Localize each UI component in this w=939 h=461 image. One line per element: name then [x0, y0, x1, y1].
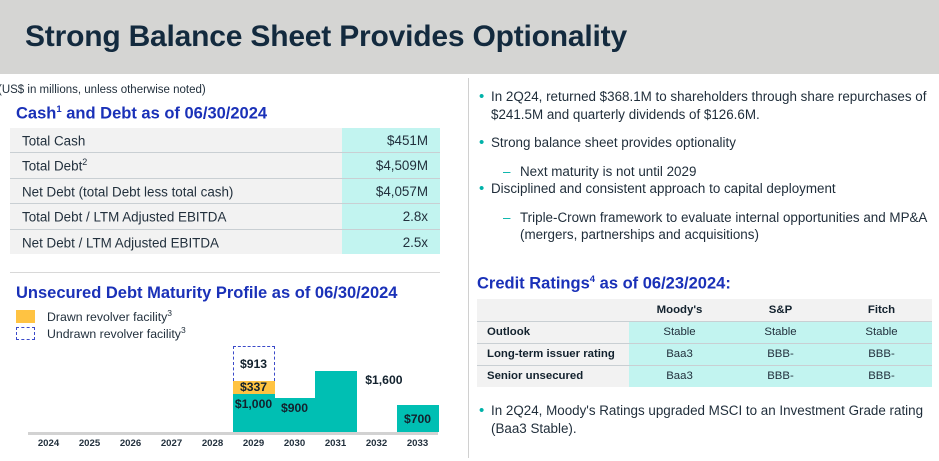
- ratings-col-header-fitch: Fitch: [831, 299, 932, 321]
- chart-x-tick: 2028: [192, 438, 234, 449]
- ratings-cell: BBB-: [831, 365, 932, 387]
- sub-bullet-text: Triple-Crown framework to evaluate inter…: [520, 209, 932, 244]
- ratings-cell: Stable: [629, 321, 730, 343]
- legend-label-drawn-sup: 3: [167, 308, 172, 318]
- cash-row-label: Total Cash: [10, 128, 342, 153]
- chart-x-tick: 2032: [356, 438, 398, 449]
- bar-segment-senior-unsecured-notes: $700: [397, 405, 439, 432]
- cash-row-label-text: Total Debt / LTM Adjusted EBITDA: [22, 210, 226, 225]
- highlights-bullet-list: • In 2Q24, returned $368.1M to sharehold…: [477, 88, 932, 244]
- left-column: (US$ in millions, unless otherwise noted…: [0, 74, 468, 461]
- dash-icon: –: [503, 163, 520, 181]
- chart-bar-2029: $913$337$1,000: [233, 346, 275, 432]
- cash-row-label-sup: 2: [82, 157, 87, 167]
- bar-value-label: $913: [240, 357, 267, 371]
- ratings-col-header-moodys: Moody's: [629, 299, 730, 321]
- bullet-dot-icon: •: [477, 402, 491, 437]
- table-header-row: Moody's S&P Fitch: [477, 299, 932, 321]
- legend-item-undrawn: Undrawn revolver facility3: [16, 325, 186, 342]
- chart-bar-2030: $900: [274, 398, 316, 432]
- ratings-table-head: Moody's S&P Fitch: [477, 299, 932, 321]
- slide-root: Strong Balance Sheet Provides Optionalit…: [0, 0, 939, 461]
- bullet-text: Disciplined and consistent approach to c…: [491, 180, 836, 198]
- chart-x-tick: 2026: [110, 438, 152, 449]
- cash-row-value: $4,057M: [342, 178, 440, 203]
- right-column: • In 2Q24, returned $368.1M to sharehold…: [469, 74, 939, 461]
- chart-legend: Drawn revolver facility3 Undrawn revolve…: [16, 308, 186, 342]
- table-row: Total Debt2 $4,509M: [10, 153, 440, 178]
- chart-x-tick: 2025: [69, 438, 111, 449]
- legend-label-undrawn: Undrawn revolver facility3: [47, 325, 186, 341]
- slide-header: Strong Balance Sheet Provides Optionalit…: [0, 0, 939, 74]
- ratings-cell: Stable: [730, 321, 831, 343]
- bullet-text: Strong balance sheet provides optionalit…: [491, 134, 736, 152]
- ratings-cell: BBB-: [730, 343, 831, 365]
- cash-title-rest: and Debt as of 06/30/2024: [62, 105, 267, 123]
- cash-row-label-text: Total Cash: [22, 133, 85, 148]
- chart-x-tick: 2024: [28, 438, 70, 449]
- ratings-row-label: Senior unsecured: [477, 365, 629, 387]
- legend-label-drawn: Drawn revolver facility3: [47, 308, 172, 324]
- ratings-cell: Stable: [831, 321, 932, 343]
- bullet-row: • Disciplined and consistent approach to…: [477, 180, 932, 198]
- units-note: (US$ in millions, unless otherwise noted…: [0, 84, 206, 96]
- bar-value-label: $900: [281, 401, 308, 415]
- chart-x-tick: 2031: [315, 438, 357, 449]
- maturity-profile-title: Unsecured Debt Maturity Profile as of 06…: [16, 284, 397, 303]
- ratings-cell: BBB-: [831, 343, 932, 365]
- bullet-row: • In 2Q24, Moody's Ratings upgraded MSCI…: [477, 402, 932, 437]
- bullet-dot-icon: •: [477, 88, 491, 123]
- chart-x-tick: 2029: [233, 438, 275, 449]
- ratings-row-label: Outlook: [477, 321, 629, 343]
- chart-x-axis-labels: 2024202520262027202820292030203120322033: [28, 438, 438, 456]
- bar-segment-undrawn-revolver-facility: $913: [233, 346, 275, 381]
- ratings-cell: BBB-: [730, 365, 831, 387]
- legend-label-undrawn-text: Undrawn revolver facility: [47, 328, 181, 342]
- cash-row-value: $451M: [342, 128, 440, 153]
- table-row: Total Cash $451M: [10, 128, 440, 153]
- cash-title-main: Cash: [16, 105, 56, 123]
- ratings-cell: Baa3: [629, 343, 730, 365]
- cash-row-label-text: Total Debt: [22, 159, 82, 174]
- cash-row-label: Total Debt2: [10, 153, 342, 178]
- table-row: Outlook Stable Stable Stable: [477, 321, 932, 343]
- cash-row-value: 2.8x: [342, 204, 440, 229]
- sub-bullet-row: – Next maturity is not until 2029: [503, 163, 932, 181]
- ratings-note-bullet: • In 2Q24, Moody's Ratings upgraded MSCI…: [477, 402, 932, 448]
- cash-row-label: Net Debt (total Debt less total cash): [10, 178, 342, 203]
- ratings-table-body: Outlook Stable Stable Stable Long-term i…: [477, 321, 932, 387]
- table-row: Net Debt / LTM Adjusted EBITDA 2.5x: [10, 229, 440, 254]
- bar-value-label: $1,000: [235, 397, 272, 411]
- chart-bar-2031: $1,600: [315, 371, 357, 432]
- chart-bar-2033: $700: [397, 405, 439, 432]
- bullet-text: In 2Q24, Moody's Ratings upgraded MSCI t…: [491, 402, 932, 437]
- table-row: Net Debt (total Debt less total cash) $4…: [10, 178, 440, 203]
- credit-ratings-title: Credit Ratings4 as of 06/23/2024:: [477, 274, 731, 294]
- cash-table-body: Total Cash $451M Total Debt2 $4,509M Net…: [10, 128, 440, 254]
- cash-and-debt-title: Cash1 and Debt as of 06/30/2024: [16, 104, 267, 124]
- sub-bullet-text: Next maturity is not until 2029: [520, 163, 696, 181]
- bar-value-label: $700: [404, 412, 431, 426]
- bullet-dot-icon: •: [477, 134, 491, 152]
- table-row: Total Debt / LTM Adjusted EBITDA 2.8x: [10, 204, 440, 229]
- dash-icon: –: [503, 209, 520, 244]
- bullet-row: • Strong balance sheet provides optional…: [477, 134, 932, 152]
- chart-bars-layer: $913$337$1,000$900$1,600$700: [28, 346, 438, 432]
- ratings-col-header-sp: S&P: [730, 299, 831, 321]
- section-divider: [10, 272, 440, 273]
- cash-row-label-text: Net Debt (total Debt less total cash): [22, 184, 233, 199]
- bar-segment-senior-unsecured-notes: $1,000: [233, 394, 275, 432]
- undrawn-swatch-icon: [16, 327, 35, 340]
- ratings-title-rest: as of 06/23/2024:: [595, 275, 731, 293]
- chart-axis-line: [28, 432, 438, 435]
- bullet-text: In 2Q24, returned $368.1M to shareholder…: [491, 88, 932, 123]
- bar-value-label: $1,600: [365, 373, 402, 387]
- list-item: • Strong balance sheet provides optional…: [477, 134, 932, 180]
- chart-x-tick: 2033: [397, 438, 439, 449]
- legend-label-undrawn-sup: 3: [181, 325, 186, 335]
- cash-row-label-text: Net Debt / LTM Adjusted EBITDA: [22, 235, 219, 250]
- ratings-col-header-blank: [477, 299, 629, 321]
- table-row: Long-term issuer rating Baa3 BBB- BBB-: [477, 343, 932, 365]
- legend-item-drawn: Drawn revolver facility3: [16, 308, 186, 325]
- ratings-title-main: Credit Ratings: [477, 275, 590, 293]
- cash-and-debt-table: Total Cash $451M Total Debt2 $4,509M Net…: [10, 128, 440, 254]
- table-row: Senior unsecured Baa3 BBB- BBB-: [477, 365, 932, 387]
- ratings-row-label: Long-term issuer rating: [477, 343, 629, 365]
- bullet-row: • In 2Q24, returned $368.1M to sharehold…: [477, 88, 932, 123]
- cash-row-value: 2.5x: [342, 229, 440, 254]
- bar-segment-senior-unsecured-notes: $900: [274, 398, 316, 432]
- list-item: • In 2Q24, returned $368.1M to sharehold…: [477, 88, 932, 123]
- page-title: Strong Balance Sheet Provides Optionalit…: [25, 20, 627, 54]
- legend-label-drawn-text: Drawn revolver facility: [47, 311, 167, 325]
- bar-value-label: $337: [240, 380, 267, 394]
- maturity-bar-chart: $913$337$1,000$900$1,600$700 20242025202…: [10, 346, 450, 458]
- sub-bullet-row: – Triple-Crown framework to evaluate int…: [503, 209, 932, 244]
- bullet-dot-icon: •: [477, 180, 491, 198]
- cash-row-label: Total Debt / LTM Adjusted EBITDA: [10, 204, 342, 229]
- cash-row-value: $4,509M: [342, 153, 440, 178]
- credit-ratings-table: Moody's S&P Fitch Outlook Stable Stable …: [477, 299, 932, 387]
- chart-x-tick: 2030: [274, 438, 316, 449]
- chart-x-tick: 2027: [151, 438, 193, 449]
- bar-segment-senior-unsecured-notes: $1,600: [315, 371, 357, 432]
- bar-segment-drawn-revolver-facility: $337: [233, 381, 275, 394]
- list-item: • Disciplined and consistent approach to…: [477, 180, 932, 244]
- ratings-cell: Baa3: [629, 365, 730, 387]
- cash-row-label: Net Debt / LTM Adjusted EBITDA: [10, 229, 342, 254]
- drawn-swatch-icon: [16, 310, 35, 323]
